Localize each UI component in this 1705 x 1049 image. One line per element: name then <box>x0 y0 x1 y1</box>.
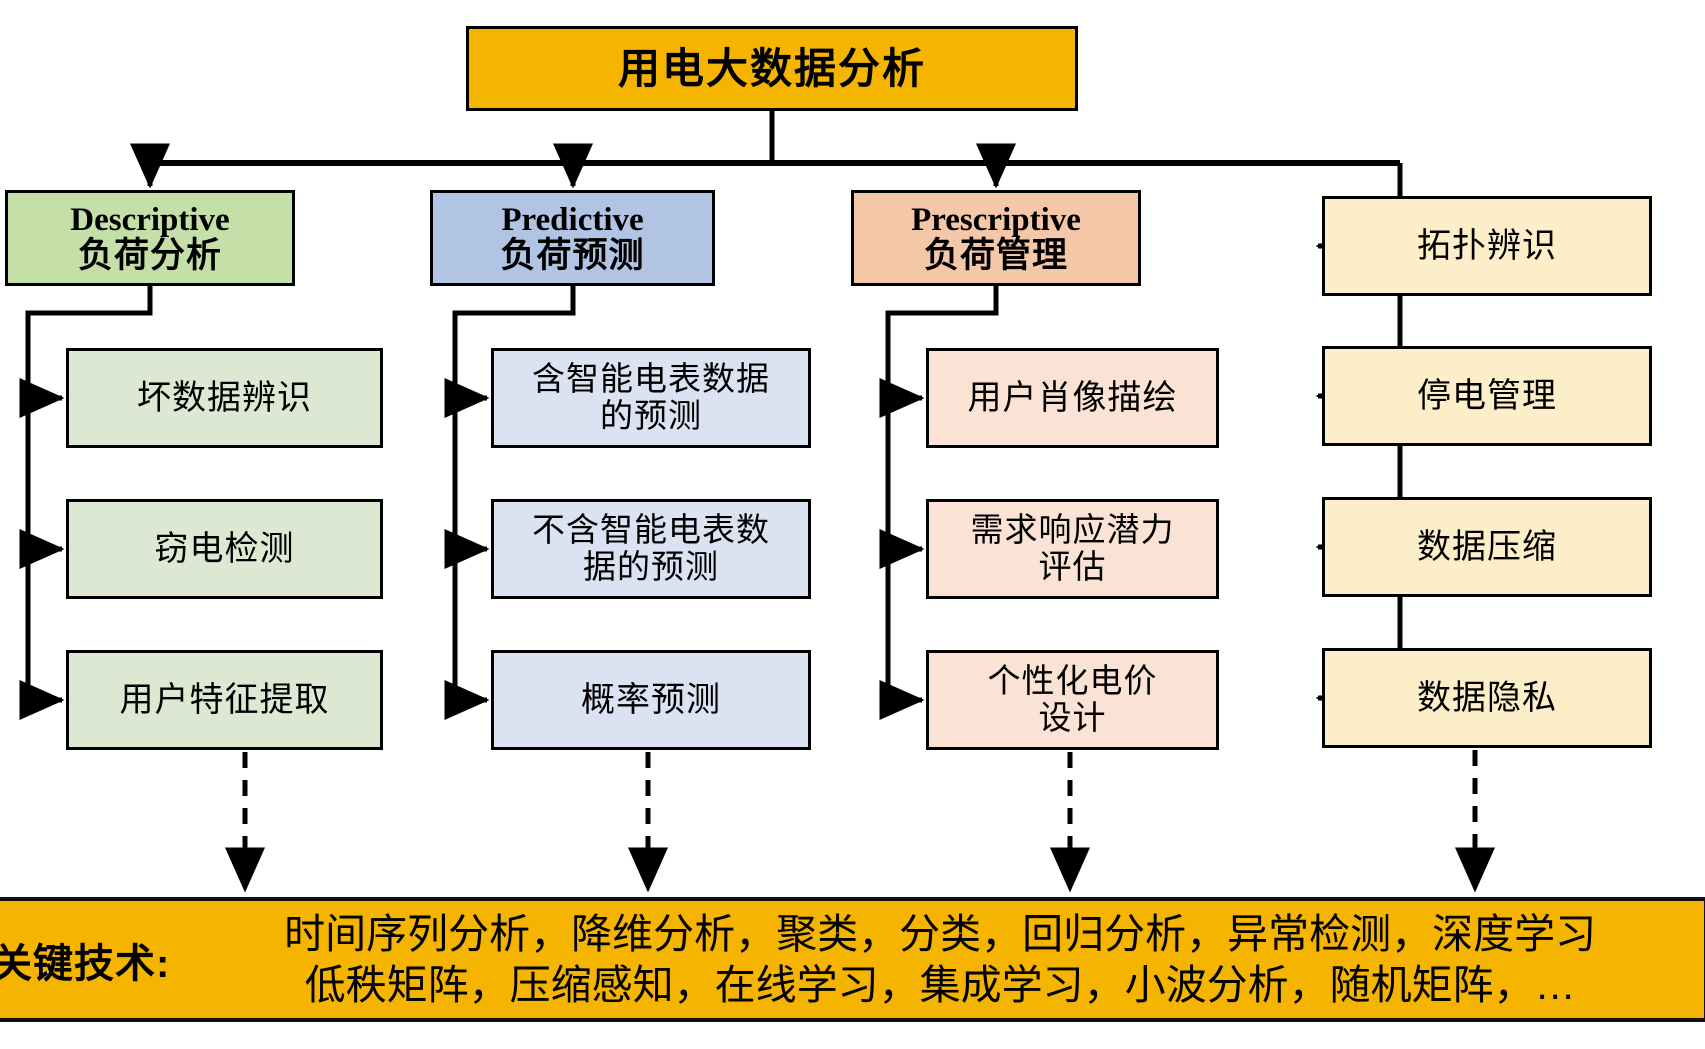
node-outage-management: 停电管理 <box>1322 346 1652 446</box>
node-user-feature-extraction: 用户特征提取 <box>66 650 383 750</box>
node-label-line1: 需求响应潜力 <box>971 512 1175 549</box>
node-label: 概率预测 <box>581 681 721 719</box>
node-label-line2: 据的预测 <box>532 549 770 586</box>
root-title-box: 用电大数据分析 <box>466 26 1078 111</box>
category-cn-label: 负荷分析 <box>78 238 222 275</box>
node-data-compression: 数据压缩 <box>1322 497 1652 597</box>
node-label: 用户特征提取 <box>120 681 330 719</box>
node-label-line2: 设计 <box>988 700 1158 737</box>
node-electricity-theft-detection: 窃电检测 <box>66 499 383 599</box>
node-label: 拓扑辨识 <box>1417 227 1557 265</box>
category-cn-label: 负荷预测 <box>500 238 644 275</box>
root-title-label: 用电大数据分析 <box>618 45 926 92</box>
node-topology-identification: 拓扑辨识 <box>1322 196 1652 296</box>
key-technologies-line1: 时间序列分析，降维分析，聚类，分类，回归分析，异常检测，深度学习 <box>176 909 1704 959</box>
node-label: 数据压缩 <box>1417 528 1557 566</box>
key-technologies-list: 时间序列分析，降维分析，聚类，分类，回归分析，异常检测，深度学习 低秩矩阵，压缩… <box>170 909 1704 1009</box>
key-technologies-label: 关键技术: <box>0 931 170 989</box>
node-user-profiling: 用户肖像描绘 <box>926 348 1219 448</box>
node-label-line1: 个性化电价 <box>988 663 1158 700</box>
node-probabilistic-forecast: 概率预测 <box>491 650 811 750</box>
node-label-line1: 不含智能电表数 <box>532 512 770 549</box>
node-label-line2: 的预测 <box>532 398 770 435</box>
category-en-label: Predictive <box>501 203 643 238</box>
node-label: 数据隐私 <box>1417 679 1557 717</box>
node-personalized-pricing: 个性化电价 设计 <box>926 650 1219 750</box>
key-technologies-banner: 关键技术: 时间序列分析，降维分析，聚类，分类，回归分析，异常检测，深度学习 低… <box>0 897 1705 1022</box>
category-en-label: Prescriptive <box>911 203 1081 238</box>
node-bad-data-identification: 坏数据辨识 <box>66 348 383 448</box>
node-data-privacy: 数据隐私 <box>1322 648 1652 748</box>
category-cn-label: 负荷管理 <box>924 238 1068 275</box>
category-en-label: Descriptive <box>70 203 229 238</box>
category-header-prescriptive: Prescriptive 负荷管理 <box>851 190 1141 286</box>
node-forecast-without-smart-meter: 不含智能电表数 据的预测 <box>491 499 811 599</box>
node-demand-response-potential: 需求响应潜力 评估 <box>926 499 1219 599</box>
category-header-predictive: Predictive 负荷预测 <box>430 190 715 286</box>
key-technologies-line2: 低秩矩阵，压缩感知，在线学习，集成学习，小波分析，随机矩阵，… <box>176 960 1704 1010</box>
diagram-canvas: 用电大数据分析 Descriptive 负荷分析 坏数据辨识 窃电检测 用户特征… <box>0 0 1705 1049</box>
node-label: 坏数据辨识 <box>137 379 312 417</box>
node-forecast-with-smart-meter: 含智能电表数据 的预测 <box>491 348 811 448</box>
node-label-line2: 评估 <box>971 549 1175 586</box>
node-label: 停电管理 <box>1417 377 1557 415</box>
node-label-line1: 含智能电表数据 <box>532 361 770 398</box>
category-header-descriptive: Descriptive 负荷分析 <box>5 190 295 286</box>
node-label: 窃电检测 <box>155 530 295 568</box>
node-label: 用户肖像描绘 <box>968 379 1178 417</box>
